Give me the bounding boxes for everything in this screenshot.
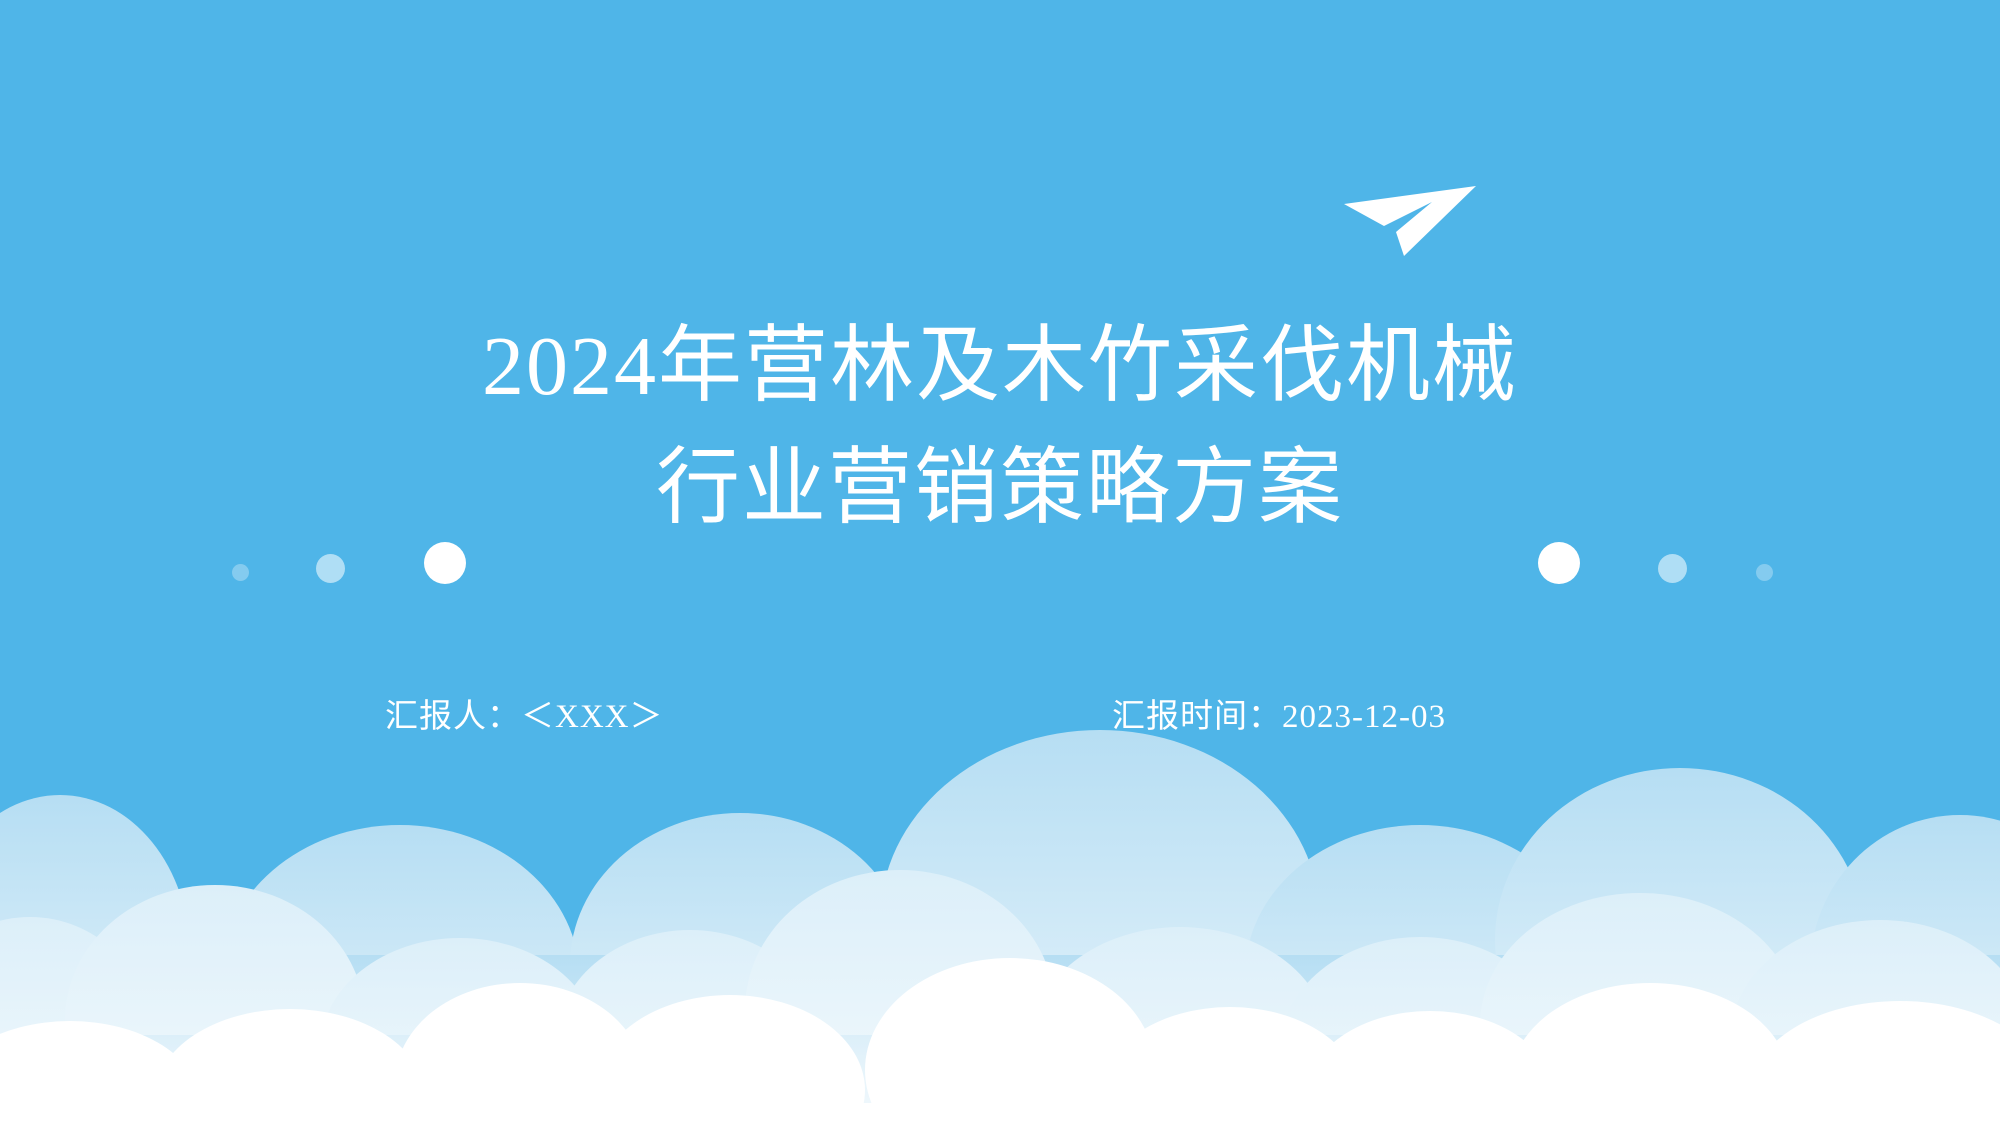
paper-plane-icon <box>1340 182 1480 260</box>
title-slide: 2024年营林及木竹采伐机械 行业营销策略方案 汇报人：＜XXX＞ 汇报时间：2… <box>0 0 2000 1125</box>
decor-dot-right-medium <box>1658 554 1687 583</box>
slide-title: 2024年营林及木竹采伐机械 行业营销策略方案 <box>0 306 2000 550</box>
slide-title-line-1: 2024年营林及木竹采伐机械 <box>0 306 2000 428</box>
slide-title-line-2: 行业营销策略方案 <box>0 428 2000 550</box>
decor-dot-right-small <box>1756 564 1773 581</box>
decor-dot-left-small <box>232 564 249 581</box>
decor-dot-left-medium <box>316 554 345 583</box>
cloud-decoration <box>0 705 2000 1125</box>
